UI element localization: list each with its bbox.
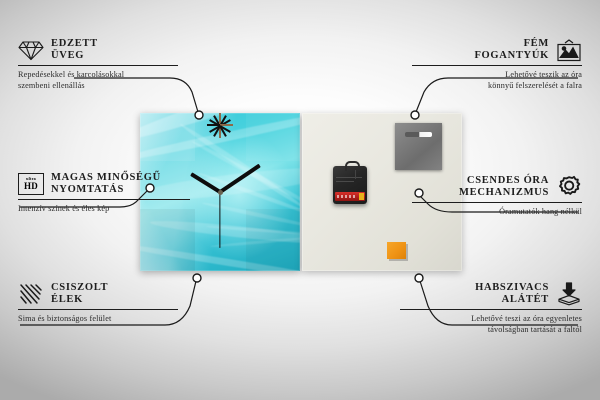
feature-title-line2: ALÁTÉT — [502, 294, 549, 306]
feature-title: CSISZOLT ÉLEK — [51, 282, 108, 306]
picture-hanger-icon — [556, 39, 582, 62]
ultra-hd-icon-hd: HD — [24, 182, 38, 191]
bevelled-edge-icon — [18, 283, 44, 305]
feature-metal-hangers: FÉM FOGANTYÚK Lehetővé teszik az óra kön… — [412, 38, 582, 91]
feature-description: Óramutatók hang nélkül — [412, 206, 582, 217]
feature-title-line2: FOGANTYÚK — [474, 50, 549, 62]
feature-silent-mechanism: CSENDES ÓRA MECHANIZMUS Óramutatók hang … — [412, 175, 582, 217]
diamond-icon — [18, 39, 44, 61]
infographic-canvas: EDZETT ÜVEG Repedésekkel és karcolásokka… — [0, 0, 600, 400]
feature-description: Repedésekkel és karcolásokkal szembeni e… — [18, 69, 188, 91]
feature-title: CSENDES ÓRA MECHANIZMUS — [459, 175, 549, 199]
feature-rule — [18, 65, 178, 66]
feature-title-line1: CSISZOLT — [51, 282, 108, 294]
feature-title: FÉM FOGANTYÚK — [474, 38, 549, 62]
ultra-hd-icon: ultra HD — [18, 173, 44, 195]
feature-title-line2: MECHANIZMUS — [459, 187, 549, 199]
feature-title-line2: ÜVEG — [51, 50, 98, 62]
feature-rule — [18, 199, 190, 200]
feature-description: Lehetővé teszik az óra könnyű felszerelé… — [412, 69, 582, 91]
feature-title-line1: CSENDES ÓRA — [467, 175, 549, 187]
feature-title-line2: ÉLEK — [51, 294, 108, 306]
feature-title: HABSZIVACS ALÁTÉT — [475, 282, 549, 306]
foam-press-icon — [556, 282, 582, 306]
feature-title: EDZETT ÜVEG — [51, 38, 98, 62]
feature-title: MAGAS MINŐSÉGŰ NYOMTATÁS — [51, 172, 161, 196]
feature-rule — [400, 309, 582, 310]
feature-title-line1: FÉM — [524, 38, 549, 50]
feature-polished-edges: CSISZOLT ÉLEK Sima és biztonságos felüle… — [18, 282, 188, 324]
feature-rule — [412, 65, 582, 66]
feature-title-line1: HABSZIVACS — [475, 282, 549, 294]
feature-description: Lehetővé teszi az óra egyenletes távolsá… — [400, 313, 582, 335]
gear-icon — [556, 175, 582, 199]
feature-title-line2: NYOMTATÁS — [51, 184, 161, 196]
feature-title-line1: MAGAS MINŐSÉGŰ — [51, 172, 161, 184]
feature-tempered-glass: EDZETT ÜVEG Repedésekkel és karcolásokka… — [18, 38, 188, 91]
feature-title-line1: EDZETT — [51, 38, 98, 50]
feature-description: Intenzív színek és éles kép — [18, 203, 198, 214]
feature-rule — [18, 309, 178, 310]
feature-foam-backing: HABSZIVACS ALÁTÉT Lehetővé teszi az óra … — [400, 282, 582, 335]
feature-high-quality-print: ultra HD MAGAS MINŐSÉGŰ NYOMTATÁS Intenz… — [18, 172, 198, 214]
feature-rule — [412, 202, 582, 203]
feature-description: Sima és biztonságos felület — [18, 313, 188, 324]
